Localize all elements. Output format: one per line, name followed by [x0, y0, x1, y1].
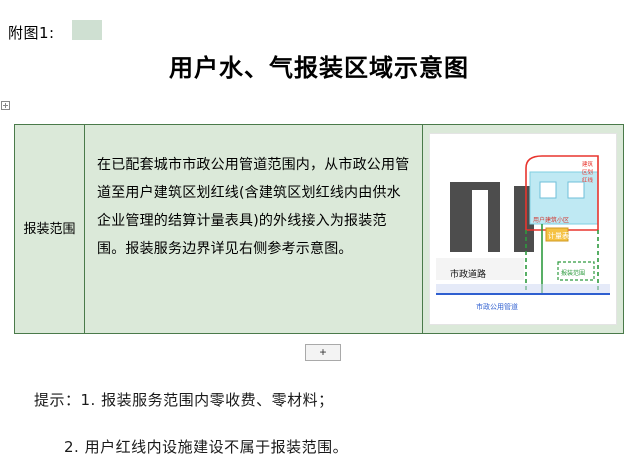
table-move-handle[interactable]	[0, 100, 12, 114]
move-handle-icon	[1, 101, 10, 110]
svg-text:报装范围: 报装范围	[561, 269, 585, 277]
svg-text:建筑: 建筑	[582, 160, 594, 168]
svg-text:市政道路: 市政道路	[450, 268, 486, 280]
svg-text:用户建筑小区: 用户建筑小区	[533, 216, 569, 224]
table-figure-cell: 建筑 区划 红线 用户建筑小区 报装范围 计量表 市政道路	[423, 125, 623, 333]
figure-label-highlight	[72, 20, 102, 40]
note-line-1: 提示：1. 报装服务范围内零收费、零材料；	[34, 389, 334, 410]
page-title: 用户水、气报装区域示意图	[0, 48, 638, 83]
svg-text:红线: 红线	[582, 176, 594, 184]
svg-text:区划: 区划	[582, 168, 593, 176]
figure-label: 附图1:	[8, 22, 55, 43]
table-row-label: 报装范围	[15, 125, 85, 333]
note-line-2: 2. 用户红线内设施建设不属于报装范围。	[64, 436, 348, 457]
scope-table: 报装范围 在已配套城市市政公用管道范围内，从市政公用管道至用户建筑区划红线(含建…	[14, 124, 624, 334]
svg-text:市政公用管道: 市政公用管道	[476, 302, 518, 311]
document-page: 附图1: 用户水、气报装区域示意图 报装范围 在已配套城市市政公用管道范围内，从…	[0, 0, 638, 473]
table-body-text: 在已配套城市市政公用管道范围内，从市政公用管道至用户建筑区划红线(含建筑区划红线…	[85, 125, 423, 333]
diagram-svg: 建筑 区划 红线 用户建筑小区 报装范围 计量表 市政道路	[430, 134, 616, 324]
svg-text:计量表: 计量表	[548, 231, 569, 240]
insert-row-button[interactable]: +	[305, 344, 341, 361]
scope-diagram: 建筑 区划 红线 用户建筑小区 报装范围 计量表 市政道路	[429, 133, 617, 325]
page-bottom-edge	[0, 467, 638, 473]
